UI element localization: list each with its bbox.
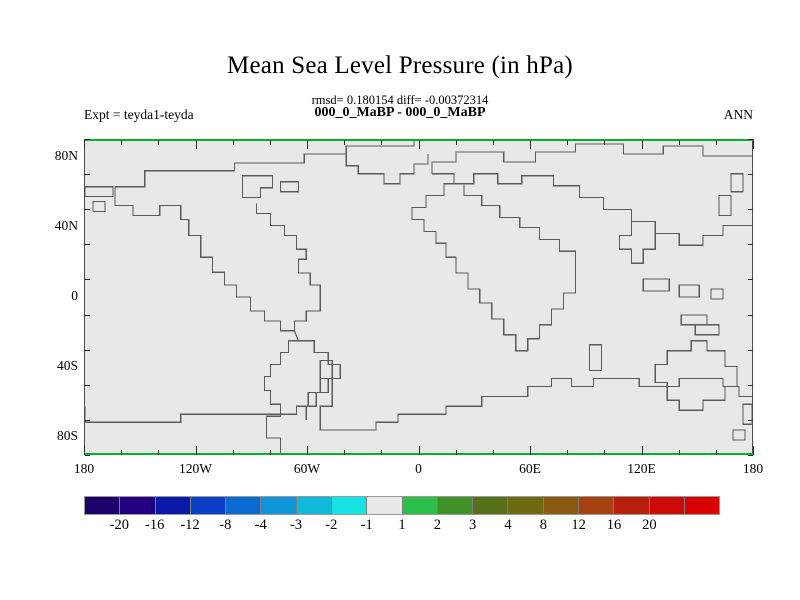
- experiment-label: Expt = teyda1-teyda: [84, 107, 194, 123]
- x-tick-top: [753, 140, 754, 149]
- x-tick-top: [567, 140, 568, 145]
- x-tick-top: [270, 140, 271, 145]
- y-tick-left: [85, 455, 90, 456]
- colorbar-swatch: [85, 497, 120, 514]
- x-tick-top: [307, 140, 308, 149]
- x-tick-bottom: [753, 446, 754, 455]
- colorbar-tick-labels: -20-16-12-8-4-3-2-112348121620: [84, 517, 720, 537]
- x-tick-bottom: [493, 450, 494, 455]
- x-tick-bottom: [456, 450, 457, 455]
- colorbar-swatch: [473, 497, 508, 514]
- colorbar-swatch: [650, 497, 685, 514]
- x-tick-bottom: [344, 450, 345, 455]
- y-tick-left: [85, 244, 90, 245]
- colorbar-swatch: [261, 497, 296, 514]
- y-axis-label: 80S: [34, 428, 78, 444]
- x-tick-bottom: [307, 446, 308, 455]
- coastline-map: [85, 140, 752, 454]
- y-tick-right: [748, 455, 753, 456]
- x-tick-bottom: [158, 450, 159, 455]
- x-tick-top: [604, 140, 605, 145]
- colorbar-swatch: [579, 497, 614, 514]
- x-axis-label: 60E: [500, 461, 560, 477]
- colorbar-swatch: [544, 497, 579, 514]
- x-tick-bottom: [679, 450, 680, 455]
- colorbar: [84, 496, 720, 515]
- x-tick-top: [716, 140, 717, 145]
- x-tick-top: [679, 140, 680, 145]
- x-tick-bottom: [121, 450, 122, 455]
- colorbar-swatch: [226, 497, 261, 514]
- y-axis-label: 0: [34, 288, 78, 304]
- y-tick-right: [748, 315, 753, 316]
- x-tick-top: [493, 140, 494, 145]
- x-tick-bottom: [84, 446, 85, 455]
- x-tick-top: [456, 140, 457, 145]
- x-tick-bottom: [381, 450, 382, 455]
- y-tick-left: [85, 279, 90, 280]
- y-tick-right: [748, 139, 753, 140]
- colorbar-tick-label: 20: [627, 517, 671, 534]
- x-tick-bottom: [419, 446, 420, 455]
- season-label: ANN: [724, 107, 753, 123]
- x-tick-top: [419, 140, 420, 149]
- x-tick-top: [381, 140, 382, 145]
- colorbar-swatch: [403, 497, 438, 514]
- x-tick-top: [344, 140, 345, 145]
- x-axis-label: 180: [54, 461, 114, 477]
- y-tick-left: [85, 174, 90, 175]
- x-tick-bottom: [530, 446, 531, 455]
- colorbar-swatch: [332, 497, 367, 514]
- x-tick-top: [530, 140, 531, 149]
- x-axis-label: 120W: [166, 461, 226, 477]
- x-axis-label: 120E: [612, 461, 672, 477]
- x-tick-top: [196, 140, 197, 149]
- y-tick-left: [85, 209, 90, 210]
- map-plot-area: [84, 139, 753, 455]
- y-tick-right: [748, 385, 753, 386]
- x-tick-bottom: [270, 450, 271, 455]
- x-tick-bottom: [604, 450, 605, 455]
- colorbar-swatch: [508, 497, 543, 514]
- x-tick-bottom: [233, 450, 234, 455]
- y-tick-left: [85, 420, 90, 421]
- y-tick-left: [85, 315, 90, 316]
- x-tick-bottom: [642, 446, 643, 455]
- y-tick-right: [748, 244, 753, 245]
- colorbar-swatch: [156, 497, 191, 514]
- y-axis-label: 80N: [34, 148, 78, 164]
- colorbar-swatch: [120, 497, 155, 514]
- y-tick-left: [85, 139, 90, 140]
- colorbar-swatch: [367, 497, 402, 514]
- colorbar-swatch: [297, 497, 332, 514]
- x-axis-label: 180: [723, 461, 783, 477]
- y-tick-right: [748, 350, 753, 351]
- colorbar-swatch: [685, 497, 719, 514]
- x-tick-bottom: [196, 446, 197, 455]
- y-tick-right: [748, 279, 753, 280]
- colorbar-swatch: [438, 497, 473, 514]
- plot-page: Mean Sea Level Pressure (in hPa) rmsd= 0…: [0, 0, 800, 600]
- x-tick-top: [642, 140, 643, 149]
- x-tick-top: [233, 140, 234, 145]
- y-axis-label: 40S: [34, 358, 78, 374]
- x-axis-label: 60W: [277, 461, 337, 477]
- y-tick-left: [85, 385, 90, 386]
- x-tick-top: [84, 140, 85, 149]
- page-title: Mean Sea Level Pressure (in hPa): [0, 52, 800, 80]
- x-tick-bottom: [716, 450, 717, 455]
- x-tick-bottom: [567, 450, 568, 455]
- y-tick-right: [748, 174, 753, 175]
- y-tick-left: [85, 350, 90, 351]
- colorbar-swatch: [191, 497, 226, 514]
- x-tick-top: [121, 140, 122, 145]
- colorbar-swatch: [614, 497, 649, 514]
- x-axis-label: 0: [389, 461, 449, 477]
- y-tick-right: [748, 420, 753, 421]
- x-tick-top: [158, 140, 159, 145]
- y-tick-right: [748, 209, 753, 210]
- y-axis-label: 40N: [34, 218, 78, 234]
